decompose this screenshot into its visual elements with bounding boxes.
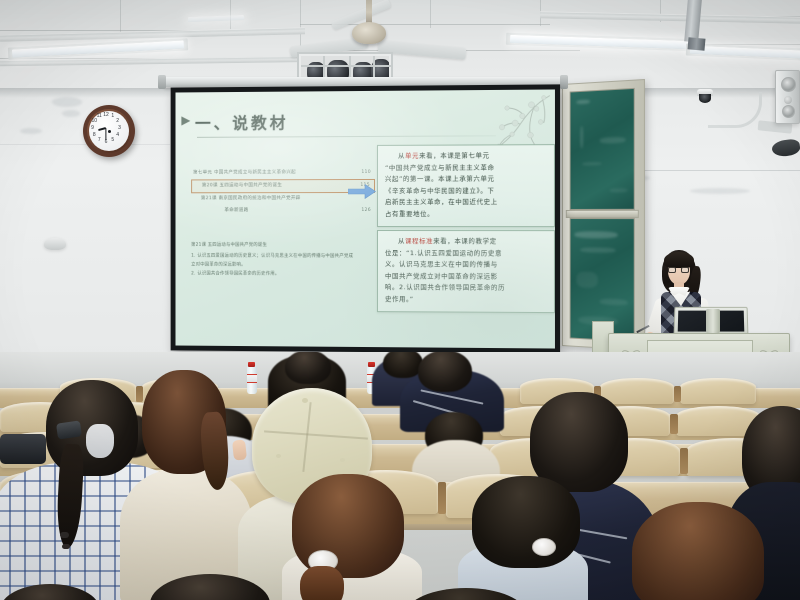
seat-back — [680, 378, 756, 404]
toc-row: 第七单元 中国共产党成立与新民主主义革命兴起110 — [191, 167, 375, 179]
toc-row-page: 126 — [355, 206, 371, 216]
lecture-hall-photo: 121234567891011 — [0, 0, 800, 600]
toc-row-label: 第20课 五四运动与中国共产党的诞生 — [202, 181, 282, 191]
callout-line: 《辛亥革命与中华民国的建立》。下 — [385, 185, 547, 197]
callout-keyword: 课程标准 — [405, 237, 433, 245]
callout-keyword: 单元 — [405, 152, 419, 160]
water-bottle — [247, 366, 257, 394]
clock-numeral: 9 — [89, 125, 97, 131]
slide-title: 一、说教材 — [195, 110, 288, 134]
right-arrow-icon — [348, 184, 376, 199]
desk-item — [56, 420, 82, 439]
callout-text: 占有重要地位。 — [385, 209, 434, 217]
callout-text: 义。认识马克思主义在中国的传播与 — [385, 260, 498, 268]
callout-line: 史作用。” — [385, 294, 547, 306]
student-head — [383, 352, 423, 378]
callout-text: 位是：“1.认识五四爱国运动的历史意 — [385, 249, 502, 257]
clock-numeral: 3 — [116, 125, 124, 131]
callout-line: 从课程标准来看，本课的教学定 — [385, 236, 547, 248]
callout-text: 启新民主主义革命，在中国近代史上 — [385, 198, 498, 206]
bag — [0, 434, 46, 464]
callout-text: 从 — [398, 237, 405, 245]
face-mask — [86, 424, 114, 458]
auditorium-seating — [0, 352, 800, 600]
glasses-icon — [668, 267, 690, 273]
cctv-dome-lens-icon — [699, 94, 711, 103]
callout-line: 义。认识马克思主义在中国的传播与 — [385, 259, 547, 271]
callout-text: 响。2.认识国共合作领导国民革命的历 — [385, 283, 505, 292]
callout-text: 史作用。” — [385, 295, 414, 303]
ponytail — [300, 566, 344, 600]
wall-speaker — [44, 238, 66, 250]
clock-numeral: 2 — [114, 118, 122, 124]
callout-line: 占有重要地位。 — [385, 208, 547, 220]
note-line: 1. 认识五四爱国运动的历史意义；认识马克思主义在中国的传播与中国共产党成 — [191, 252, 365, 261]
clock-numeral: 11 — [95, 113, 103, 119]
callout-line: 从单元来看，本课是第七单元 — [385, 150, 547, 162]
slide-note-block: 第21课 五四运动与中国共产党的诞生1. 认识五四爱国运动的历史意义；认识马克思… — [191, 241, 365, 279]
green-chalkboard — [562, 79, 645, 351]
callout-line: 兴起”的第一课。本课上承第六单元 — [385, 173, 547, 185]
callout-text: 兴起”的第一课。本课上承第六单元 — [385, 175, 495, 183]
callout-line: “中国共产党成立与新民主主义革命 — [385, 162, 547, 174]
callout-text: 从 — [398, 152, 405, 160]
presentation-slide: ▶ 一、说教材 — [176, 89, 555, 348]
callout-text: 中国共产党成立对中国革命的深远影 — [385, 272, 498, 280]
student-head — [285, 352, 331, 384]
toc-row: 革命新道路126 — [191, 205, 375, 217]
callout-line: 中国共产党成立对中国革命的深远影 — [385, 271, 547, 283]
student-head — [472, 476, 580, 568]
hand — [232, 439, 247, 460]
student-head — [632, 502, 764, 600]
toc-row-label: 第21课 南京国民政府的统治和中国共产党开辟 — [201, 194, 301, 204]
callout-line: 启新民主主义革命，在中国近代史上 — [385, 197, 547, 209]
slide-title-bullet-icon: ▶ — [181, 113, 190, 127]
student-head — [418, 352, 472, 392]
callout-text: 来看，本课的教学定 — [433, 237, 497, 245]
toc-row-page: 110 — [355, 168, 371, 178]
note-heading: 第21课 五四运动与中国共产党的诞生 — [191, 241, 365, 250]
callout-text: 《辛亥革命与中华民国的建立》。下 — [385, 186, 495, 194]
clock-numeral: 8 — [90, 132, 98, 138]
callout-curriculum-standard: 从课程标准来看，本课的教学定位是：“1.认识五四爱国运动的历史意义。认识马克思主… — [377, 230, 555, 313]
callout-text: 来看，本课是第七单元 — [419, 151, 490, 159]
seat-back — [600, 378, 674, 404]
note-line: 2. 认识国共合作领导国民革命的历史作用。 — [191, 269, 365, 279]
toc-row-label: 第七单元 中国共产党成立与新民主主义革命兴起 — [193, 168, 296, 178]
callout-text: “中国共产党成立与新民主主义革命 — [385, 163, 495, 171]
callout-line: 响。2.认识国共合作领导国民革命的历 — [385, 282, 547, 294]
hair-tie — [532, 538, 556, 556]
wall-clock: 121234567891011 — [83, 105, 135, 157]
toc-row-label: 革命新道路 — [224, 206, 248, 216]
projection-screen: ▶ 一、说教材 — [171, 84, 560, 353]
wall-speaker — [775, 70, 800, 124]
callout-line: 位是：“1.认识五四爱国运动的历史意 — [385, 248, 547, 260]
callout-unit-perspective: 从单元来看，本课是第七单元“中国共产党成立与新民主主义革命兴起”的第一课。本课上… — [377, 144, 555, 227]
